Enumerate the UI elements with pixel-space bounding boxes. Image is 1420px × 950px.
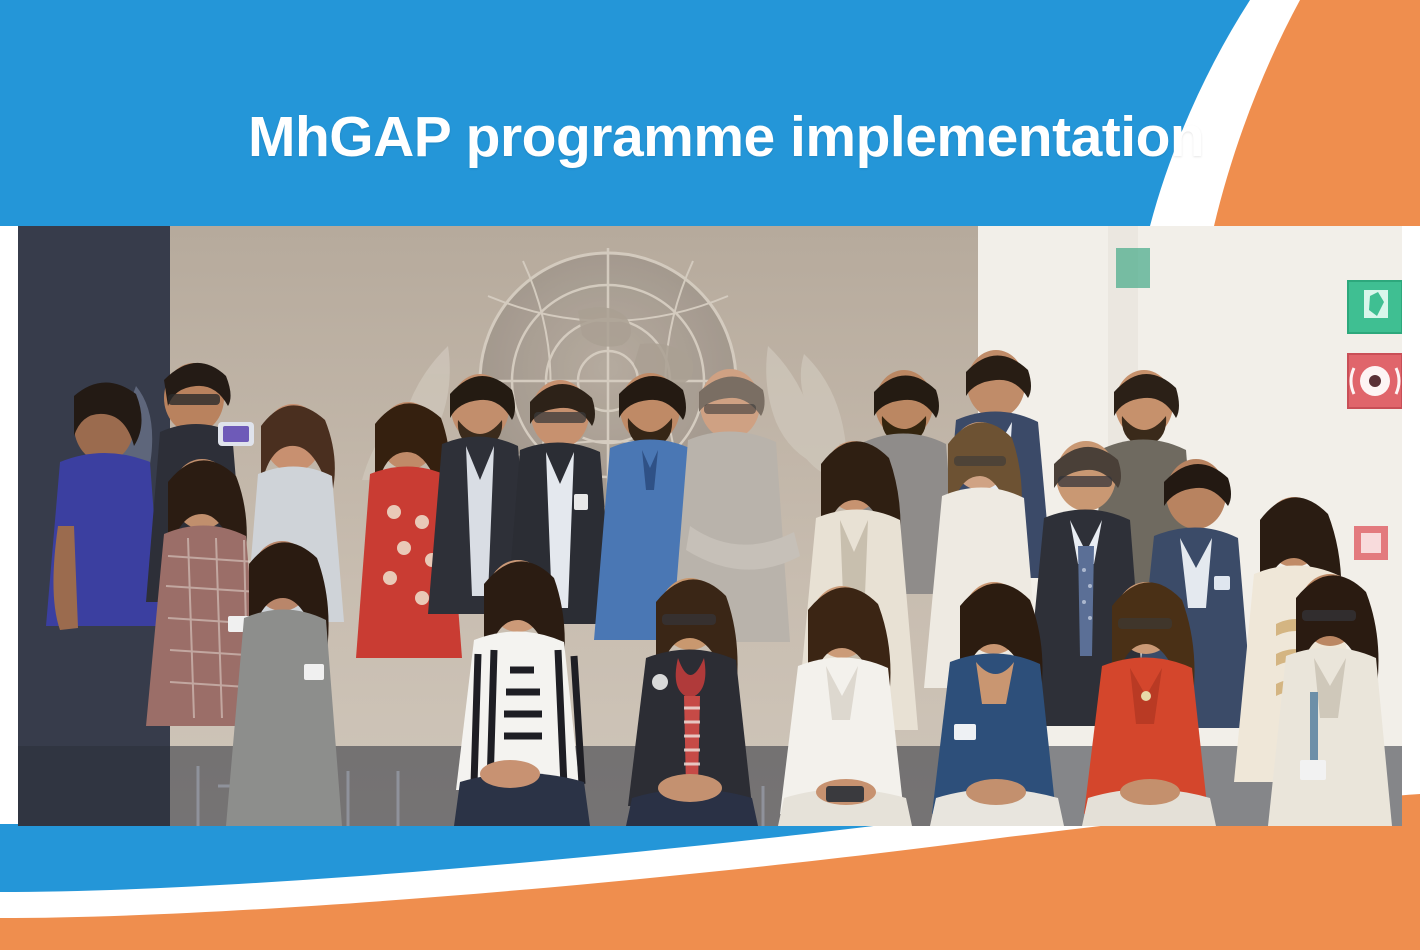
group-photo-content [18,226,1402,826]
alarm-sign [1348,354,1402,408]
group-photo [18,226,1402,826]
slide-canvas: MhGAP programme implementation [0,0,1420,950]
name-badge [1214,576,1230,590]
id-badge [1300,760,1326,780]
wall-notice [1116,248,1150,288]
necklace-pendant [1141,691,1151,701]
lapel-pin [652,674,668,690]
phone [826,786,864,802]
exit-sign [1348,281,1402,333]
lanyard [1310,692,1318,762]
small-wall-sign [1354,526,1388,560]
name-badge [954,724,976,740]
name-badge [574,494,588,510]
name-badge [304,664,324,680]
